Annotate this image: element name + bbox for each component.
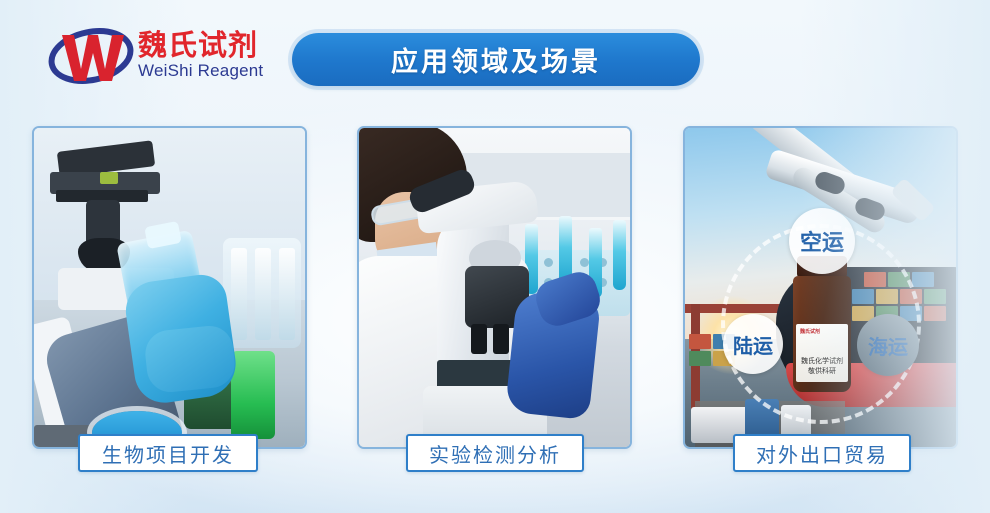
card-lab-testing-analysis[interactable] [357,126,632,449]
card-bio-project-development[interactable] [32,126,307,449]
bottle-brand-mark: 魏氏试剂 [800,328,820,335]
brand-logo-text: 魏氏试剂 WeiShi Reagent [138,30,263,81]
application-scenario-cards: 魏氏试剂 魏氏化学试剂 敬供科研 空运 陆运 海运 [0,126,990,456]
scientist-using-microscope-photo [359,128,630,447]
card-label-text: 生物项目开发 [102,439,234,468]
brand-logo[interactable]: 魏氏试剂 WeiShi Reagent [48,22,298,88]
brand-name-en: WeiShi Reagent [138,61,263,81]
badge-land-label: 陆运 [733,330,773,359]
weishi-w-logo-icon [48,23,134,87]
section-title-banner: 应用领域及场景 [292,33,700,86]
card-label-bio-project-development[interactable]: 生物项目开发 [78,434,258,472]
bottle-label-line1: 魏氏化学试剂 [801,357,843,366]
reagent-bottle: 魏氏试剂 魏氏化学试剂 敬供科研 [793,256,851,392]
card-export-trade[interactable]: 魏氏试剂 魏氏化学试剂 敬供科研 空运 陆运 海运 [683,126,958,449]
page-title: 应用领域及场景 [391,40,601,79]
badge-sea-label: 海运 [868,331,908,360]
bottle-label-line2: 敬供科研 [808,367,836,376]
card-label-lab-testing-analysis[interactable]: 实验检测分析 [406,434,584,472]
card-label-export-trade[interactable]: 对外出口贸易 [733,434,911,472]
badge-land-freight: 陆运 [723,314,783,374]
card-label-text: 对外出口贸易 [756,439,888,468]
page-header: 魏氏试剂 WeiShi Reagent 应用领域及场景 [0,0,990,110]
logistics-air-land-sea-photo: 魏氏试剂 魏氏化学试剂 敬供科研 空运 陆运 海运 [685,128,956,447]
badge-sea-freight: 海运 [857,314,919,376]
badge-air-label: 空运 [800,225,844,257]
brand-name-cn: 魏氏试剂 [138,30,263,60]
microscope-and-blue-flask-photo [34,128,305,447]
card-label-text: 实验检测分析 [429,439,561,468]
badge-air-freight: 空运 [789,208,855,274]
